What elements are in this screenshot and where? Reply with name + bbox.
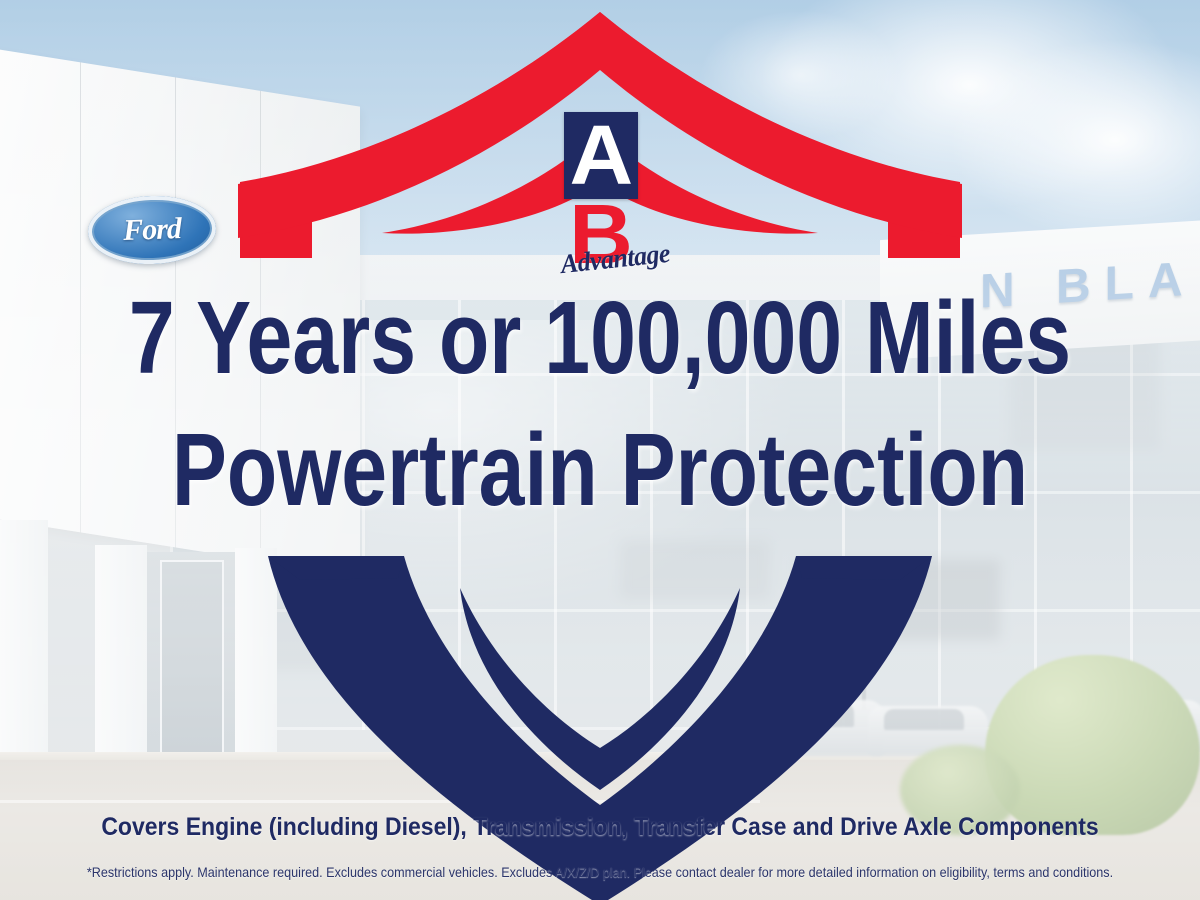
navy-double-chevron-down-icon — [268, 556, 932, 900]
ad-banner: N BLA Ford — [0, 0, 1200, 900]
headline-line-2: Powertrain Protection — [120, 418, 1080, 521]
logo-letter-a-box: A — [564, 112, 638, 199]
disclaimer-text: *Restrictions apply. Maintenance require… — [60, 864, 1140, 880]
coverage-line: Covers Engine (including Diesel), Transm… — [48, 813, 1152, 842]
logo-letter-a: A — [569, 123, 633, 189]
headline-line-1: 7 Years or 100,000 Miles — [120, 286, 1080, 389]
ab-advantage-logo: A B Advantage — [559, 112, 643, 287]
